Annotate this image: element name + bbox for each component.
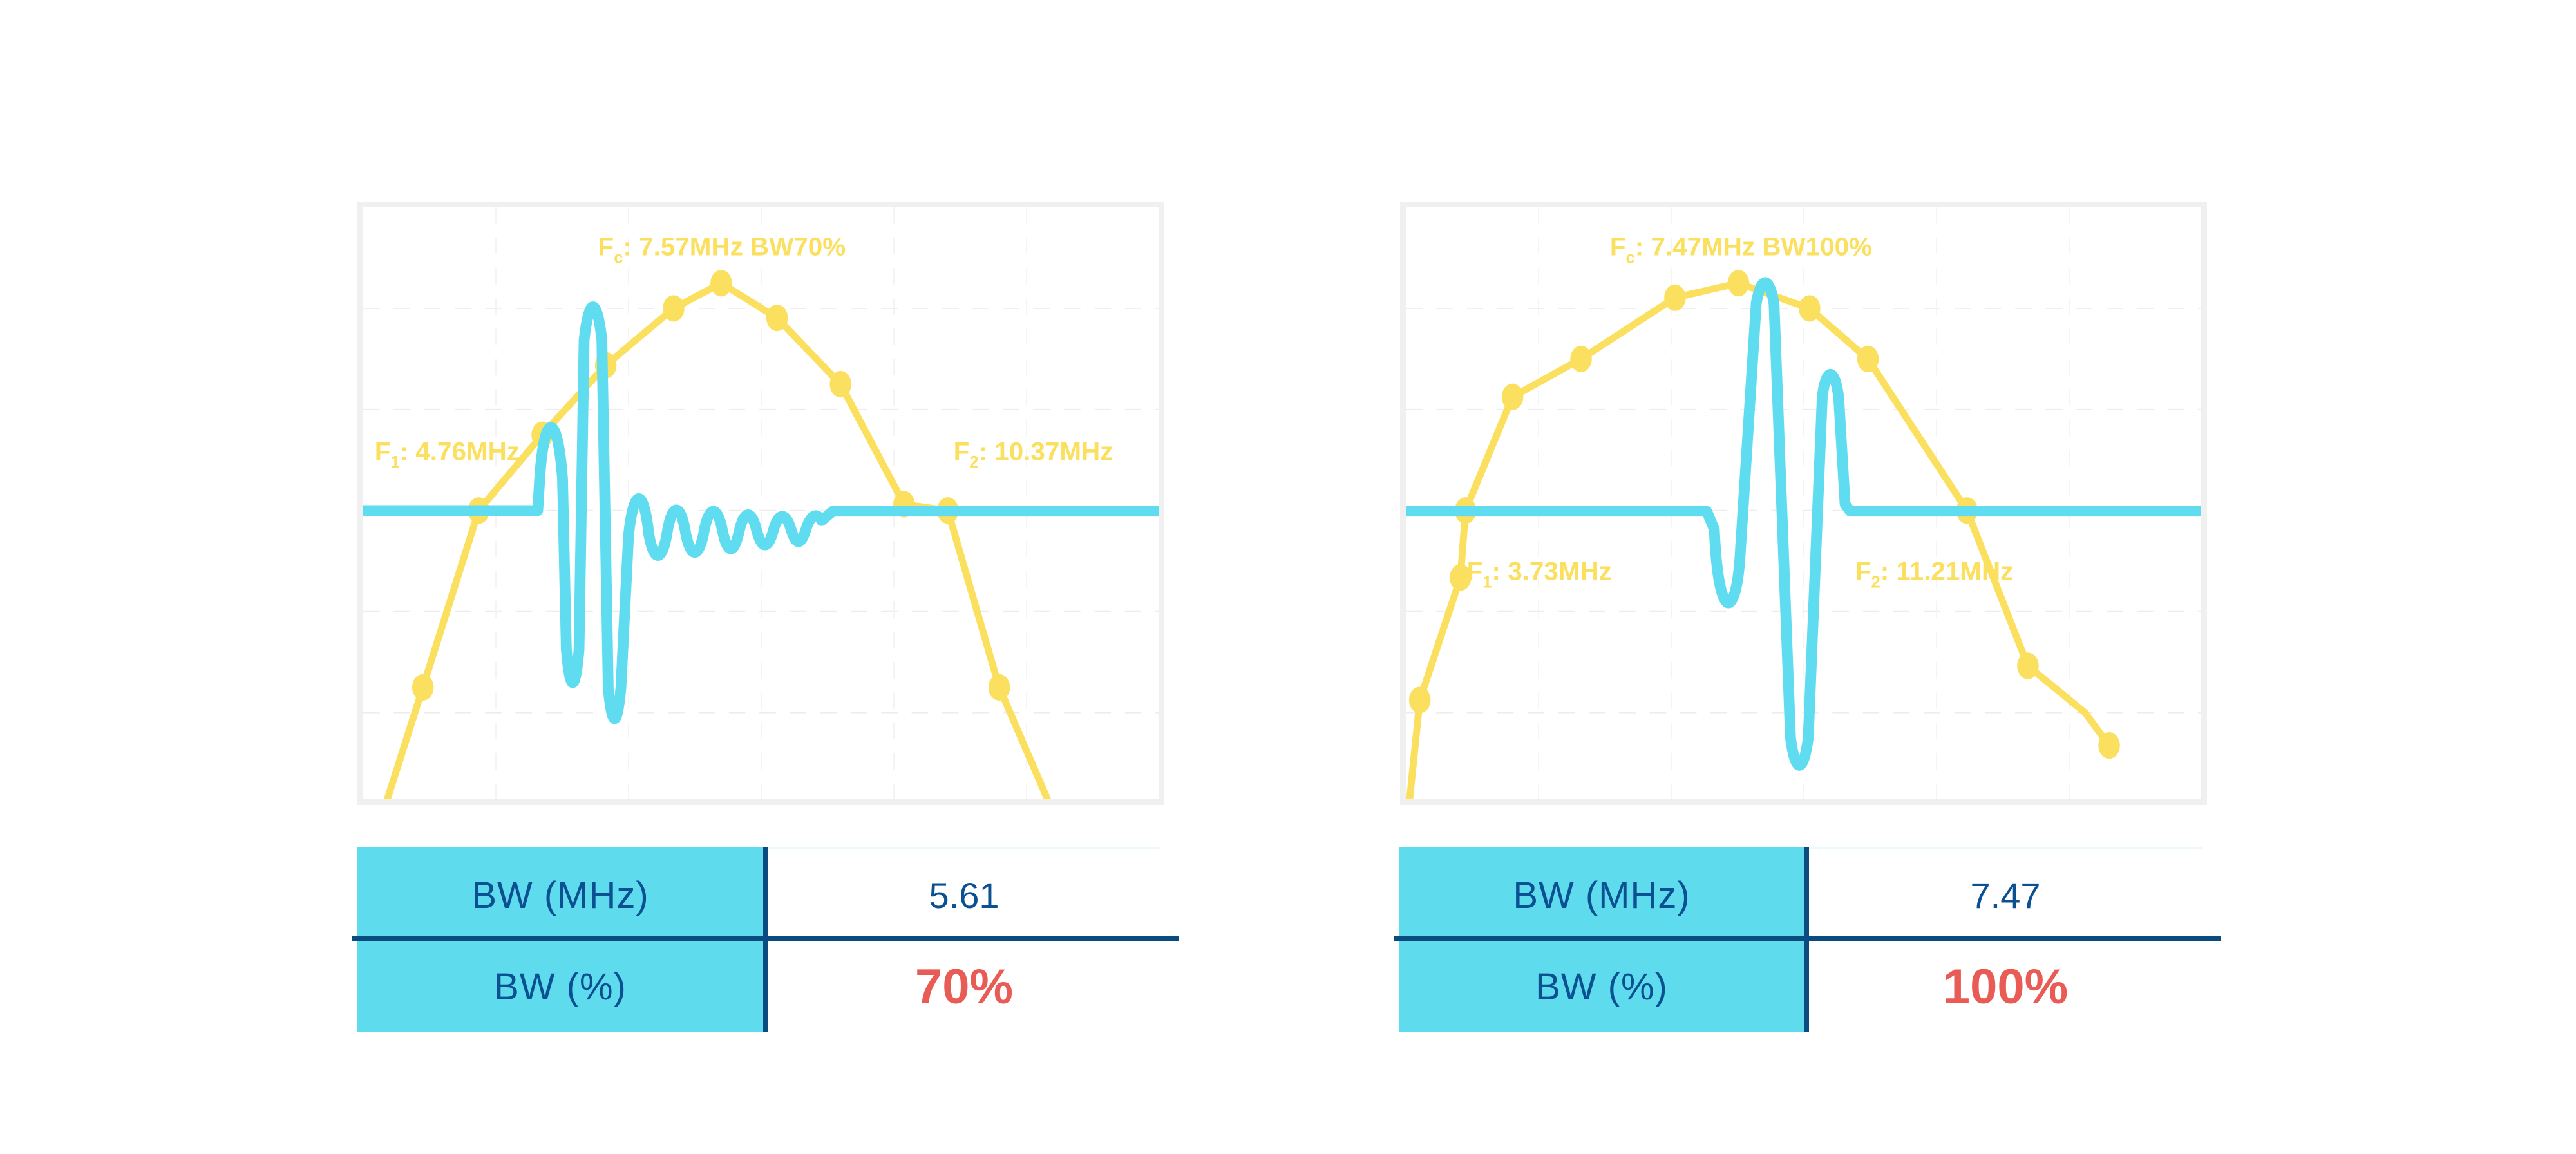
page-root: Fc: 7.57MHz BW70% F1: 4.76MHz F2: 10.37M… — [0, 0, 2576, 1154]
fc-text-left: : 7.57MHz BW70% — [623, 232, 846, 261]
annotation-f1-left: F1: 4.76MHz — [375, 437, 520, 471]
f2-text-left: : 10.37MHz — [979, 437, 1113, 466]
bw-pct-value-right: 100% — [1807, 941, 2202, 1032]
panel-left: Fc: 7.57MHz BW70% F1: 4.76MHz F2: 10.37M… — [357, 202, 1164, 805]
table-row: BW (MHz) 5.61 — [357, 849, 1160, 941]
f1-prefix-left: F — [375, 437, 391, 466]
f2-sub-right: 2 — [1871, 573, 1880, 591]
fc-prefix-right: F — [1610, 232, 1626, 261]
annotation-fc-right: Fc: 7.47MHz BW100% — [1610, 232, 1872, 267]
f1-text-right: : 3.73MHz — [1492, 557, 1612, 586]
bw-mhz-label-left: BW (MHz) — [357, 849, 766, 941]
table-row: BW (%) 70% — [357, 941, 1160, 1032]
fc-text-right: : 7.47MHz BW100% — [1635, 232, 1872, 261]
f1-sub-right: 1 — [1482, 573, 1492, 591]
fc-prefix-left: F — [598, 232, 614, 261]
f1-sub-left: 1 — [390, 453, 399, 471]
bw-pct-value-left: 70% — [766, 941, 1161, 1032]
spectrum-curve-left — [387, 283, 1047, 799]
f2-text-right: : 11.21MHz — [1880, 557, 2014, 586]
f1-text-left: : 4.76MHz — [400, 437, 520, 466]
chart-panel-right: Fc: 7.47MHz BW100% F1: 3.73MHz F2: 11.21… — [1400, 202, 2207, 805]
table-row: BW (%) 100% — [1399, 941, 2202, 1032]
table-row: BW (MHz) 7.47 — [1399, 849, 2202, 941]
f2-sub-left: 2 — [969, 453, 978, 471]
bw-pct-label-right: BW (%) — [1399, 941, 1807, 1032]
f1-prefix-right: F — [1467, 557, 1483, 586]
annotation-fc-left: Fc: 7.57MHz BW70% — [598, 232, 846, 267]
bw-pct-label-left: BW (%) — [357, 941, 766, 1032]
spectrum-curve-right — [1410, 283, 2109, 799]
f2-prefix-left: F — [954, 437, 970, 466]
spectrum-chart-right: Fc: 7.47MHz BW100% F1: 3.73MHz F2: 11.21… — [1406, 207, 2201, 799]
annotation-f2-right: F2: 11.21MHz — [1855, 557, 2014, 592]
bw-mhz-label-right: BW (MHz) — [1399, 849, 1807, 941]
table-divider-right — [1394, 936, 2221, 941]
table-divider-left — [352, 936, 1179, 941]
chart-panel-left: Fc: 7.57MHz BW70% F1: 4.76MHz F2: 10.37M… — [357, 202, 1164, 805]
spectrum-chart-left: Fc: 7.57MHz BW70% F1: 4.76MHz F2: 10.37M… — [363, 207, 1159, 799]
annotation-f2-left: F2: 10.37MHz — [954, 437, 1113, 471]
panel-right: Fc: 7.47MHz BW100% F1: 3.73MHz F2: 11.21… — [1400, 202, 2207, 805]
annotation-f1-right: F1: 3.73MHz — [1467, 557, 1612, 592]
bw-mhz-value-right: 7.47 — [1807, 849, 2202, 941]
fc-sub-left: c — [614, 249, 623, 267]
fc-sub-right: c — [1626, 249, 1635, 267]
f2-prefix-right: F — [1855, 557, 1871, 586]
bw-mhz-value-left: 5.61 — [766, 849, 1161, 941]
chart-grid-vertical-right — [1539, 207, 2069, 799]
